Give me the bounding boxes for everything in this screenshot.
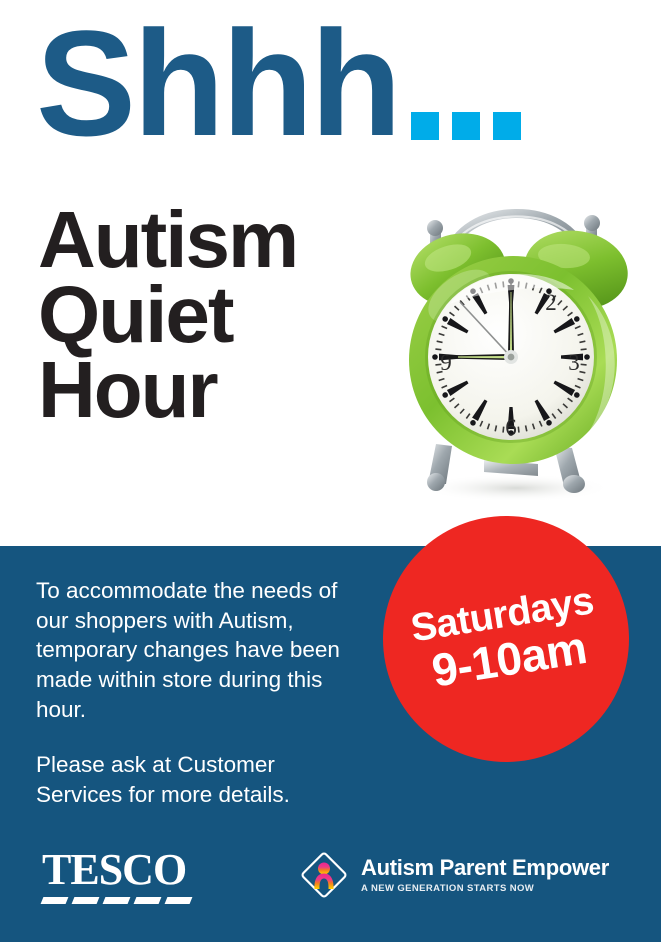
ellipsis-dots (411, 112, 521, 140)
dot-icon (411, 112, 439, 140)
tesco-dash-icon (103, 897, 131, 904)
tesco-dash-icon (134, 897, 162, 904)
tesco-dash-icon (72, 897, 100, 904)
tesco-wordmark: TESCO (42, 848, 202, 892)
schedule-badge-text: Saturdays 9-10am (408, 581, 604, 697)
page-title-line-1: Autism (38, 202, 297, 277)
footer: TESCO (0, 836, 661, 942)
info-paragraph-2: Please ask at Customer Services for more… (36, 750, 366, 809)
shhh-word: Shhh (36, 8, 399, 158)
autism-parent-empower-text: Autism Parent Empower A NEW GENERATION S… (361, 856, 609, 893)
tesco-dashes (42, 897, 202, 904)
info-paragraph-1: To accommodate the needs of our shoppers… (36, 576, 366, 724)
clock-numeral-6: 6 (505, 415, 517, 440)
dot-icon (452, 112, 480, 140)
alarm-clock-icon: 2 3 6 9 (388, 192, 638, 504)
autism-parent-empower-logo: Autism Parent Empower A NEW GENERATION S… (297, 848, 609, 902)
diamond-figure-icon (297, 848, 351, 902)
tesco-logo: TESCO (42, 848, 202, 904)
dot-icon (493, 112, 521, 140)
schedule-badge: Saturdays 9-10am (383, 516, 629, 762)
page-title-line-3: Hour (38, 352, 297, 427)
hero-section: Shhh Autism Quiet Hour (0, 0, 661, 546)
organization-tagline: A NEW GENERATION STARTS NOW (361, 883, 609, 894)
page-title: Autism Quiet Hour (38, 202, 297, 428)
shhh-headline: Shhh (36, 8, 521, 158)
clock-numeral-9: 9 (440, 350, 452, 375)
organization-name: Autism Parent Empower (361, 856, 609, 879)
info-text: To accommodate the needs of our shoppers… (36, 576, 366, 810)
page-title-line-2: Quiet (38, 277, 297, 352)
tesco-dash-icon (41, 897, 69, 904)
clock-numeral-3: 3 (568, 350, 580, 375)
autism-quiet-hour-poster: Shhh Autism Quiet Hour (0, 0, 661, 942)
tesco-dash-icon (165, 897, 193, 904)
clock-numeral-2: 2 (545, 290, 557, 315)
